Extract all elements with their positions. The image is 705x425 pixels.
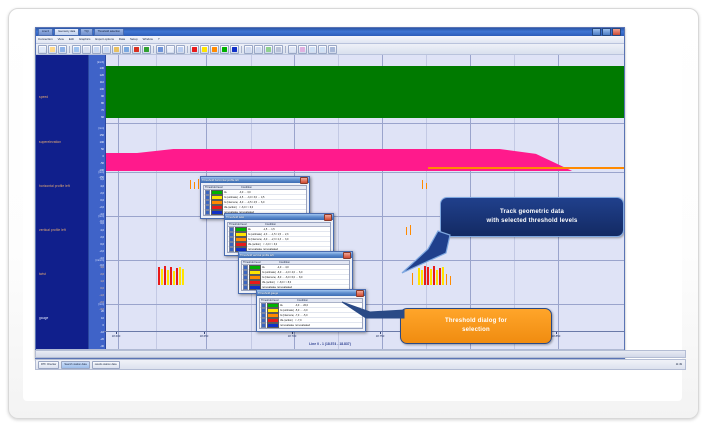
x-tick-3: 18.750 [376, 334, 385, 338]
threshold-condition: -6,0 … -4,5 / 4,5 … 6,0 [238, 201, 306, 204]
toolbar[interactable] [36, 44, 624, 55]
y-tick-vp-4: -2,0 [100, 250, 104, 253]
header-condition: Condition [264, 223, 330, 226]
y-axis-column: [km/h] 130 120 110 100 90 80 70 60 [mm] … [88, 55, 106, 353]
y-tick-vp-3: 0,0 [100, 243, 104, 246]
y-tick-gg-1: 10 [101, 317, 104, 320]
data-mark [158, 267, 160, 285]
maximize-button[interactable] [602, 28, 611, 36]
callout-line-2: with selected threshold levels [486, 217, 577, 226]
threshold-level-name: AL [247, 228, 251, 231]
filter-icon[interactable] [244, 45, 253, 54]
zoom-in-icon[interactable] [92, 45, 101, 54]
row-checkbox[interactable] [243, 285, 248, 290]
system-tray[interactable]: 11:49 [676, 363, 685, 366]
measure-icon[interactable] [122, 45, 131, 54]
export-icon[interactable] [264, 45, 273, 54]
threshold-condition: < -3,0 / > 3,0 [262, 243, 330, 246]
threshold-level-name: AL [223, 191, 227, 194]
data-mark [173, 271, 175, 285]
data-mark [161, 269, 163, 285]
menu-item-help[interactable]: ? [158, 36, 160, 43]
y-tick-vp-1: 4,0 [100, 229, 104, 232]
menu-item-data[interactable]: Data [119, 36, 125, 43]
data-mark [170, 267, 172, 285]
threshold-condition: -8,0 … -6,0 / 6,0 … 8,0 [276, 276, 349, 279]
table-icon[interactable] [166, 45, 175, 54]
threshold-level-name: IL (estimate) [279, 309, 294, 312]
toolbar-separator-5 [285, 46, 286, 53]
threshold-level-name: IAL (action) [247, 243, 261, 246]
dialog-close-icon[interactable] [343, 252, 351, 259]
y-tick-gg-0: 20 [101, 310, 104, 313]
threshold-level-name: IL (estimate) [247, 233, 262, 236]
window-tab-1[interactable]: Geometry data [54, 29, 79, 36]
taskbar-item-0[interactable]: RTF Checker [38, 361, 59, 369]
row-checkbox[interactable] [261, 323, 266, 328]
y-tick-vp-2: 2,0 [100, 236, 104, 239]
color-swatch [211, 210, 223, 215]
y-unit-horizontal: [mm] [98, 171, 104, 174]
y-tick-cant-2: 50 [101, 148, 104, 151]
y-tick-cant-4: -50 [100, 162, 104, 165]
y-tick-speed-4: 90 [101, 95, 104, 98]
y-tick-cant-0: 150 [100, 134, 104, 137]
taskbar[interactable]: RTF Checker Search station data results … [35, 359, 686, 370]
threshold-dialog-twist[interactable]: Threshold twist Threshold level Conditio… [224, 213, 334, 256]
horizontal-scrollbar[interactable] [35, 350, 686, 358]
window-tab-strip[interactable]: Line 0 Geometry data TQI Threshold selec… [38, 29, 592, 36]
menu-item-edit[interactable]: Edit [69, 36, 74, 43]
grid-icon[interactable] [72, 45, 81, 54]
taskbar-item-1[interactable]: Search station data [61, 361, 89, 369]
dialog-title: Threshold gauge [258, 292, 356, 295]
y-tick-speed-2: 110 [100, 81, 104, 84]
threshold-dialog-vertical-profile[interactable]: Threshold vertical profile left Threshol… [238, 251, 353, 294]
y-tick-tw-2: 1,0 [100, 280, 104, 283]
y-tick-cant-1: 100 [100, 141, 104, 144]
blue-flag-icon[interactable] [230, 45, 239, 54]
window-tab-0[interactable]: Line 0 [38, 29, 53, 36]
y-tick-tw-0: 3,0 [100, 266, 104, 269]
threshold-level-name: AL [279, 304, 283, 307]
y-tick-hp-3: 0,0 [100, 199, 104, 202]
y-tick-cant-3: 0 [103, 155, 104, 158]
pan-icon[interactable] [112, 45, 121, 54]
red-flag-icon[interactable] [190, 45, 199, 54]
orange-flag-icon[interactable] [210, 45, 219, 54]
callout-threshold-dialog: Threshold dialog for selection [400, 308, 552, 344]
y-tick-hp-4: -2,0 [100, 206, 104, 209]
toolbar-separator [69, 46, 70, 53]
x-tick-5: 18.850 [552, 334, 561, 338]
threshold-condition: -6,0 … -4,0 / 4,0 … 6,0 [276, 271, 349, 274]
close-button[interactable] [612, 28, 621, 36]
header-condition: Condition [278, 261, 349, 264]
new-icon[interactable] [38, 45, 47, 54]
y-tick-speed-3: 100 [100, 88, 104, 91]
data-mark [176, 268, 178, 285]
threshold-grid[interactable]: Threshold level Condition AL -1,5 … 1,5 … [227, 222, 331, 253]
threshold-level-name: AL [261, 266, 265, 269]
threshold-condition: -3,0 … 3,0 [238, 191, 306, 194]
channel-label-horizontal-profile: horizontal profile left [39, 184, 70, 188]
window-controls[interactable] [592, 28, 622, 36]
dialog-close-icon[interactable] [300, 177, 308, 184]
y-tick-hp-2: 2,0 [100, 192, 104, 195]
y-tick-gg-2: 0 [103, 324, 104, 327]
x-tick-1: 18.650 [200, 334, 209, 338]
callout-text: Threshold dialog for selection [439, 317, 513, 335]
y-tick-speed-0: 130 [100, 67, 104, 70]
threshold-condition: -2,3 … -1,5 / 1,5 … 2,3 [262, 233, 330, 236]
y-unit-gauge: [mm] [98, 303, 104, 306]
cursor-icon[interactable] [82, 45, 91, 54]
threshold-icon[interactable] [298, 45, 307, 54]
y-tick-vp-0: 6,0 [100, 222, 104, 225]
search-icon[interactable] [308, 45, 317, 54]
green-flag-icon[interactable] [220, 45, 229, 54]
callout-text: Track geometric data with selected thres… [480, 208, 583, 226]
data-mark [198, 179, 199, 189]
menu-bar[interactable]: Connection View Edit Graphics Export opt… [36, 36, 624, 44]
threshold-grid[interactable]: Threshold level Condition AL -4,0 … 4,0 … [241, 260, 350, 291]
menu-item-connection[interactable]: Connection [38, 36, 53, 43]
menu-item-graphics[interactable]: Graphics [79, 36, 91, 43]
channel-label-vertical-profile: vertical profile left [39, 228, 66, 232]
print-icon[interactable] [274, 45, 283, 54]
callout-line-1: Threshold dialog for [445, 317, 507, 326]
y-unit-vertical: [mm] [98, 215, 104, 218]
open-icon[interactable] [48, 45, 57, 54]
taskbar-item-2[interactable]: results station data [92, 361, 120, 369]
threshold-level-name: IL (estimate) [261, 271, 276, 274]
data-mark [422, 180, 423, 189]
title-bar: Line 0 Geometry data TQI Threshold selec… [36, 28, 624, 36]
menu-item-view[interactable]: View [58, 36, 64, 43]
chart-icon[interactable] [156, 45, 165, 54]
channel-label-superelevation: superelevation [39, 140, 61, 144]
y-tick-tw-1: 2,0 [100, 273, 104, 276]
callout-pointer-blue [388, 227, 454, 277]
select-icon[interactable] [288, 45, 297, 54]
channel-label-gauge: gauge [39, 316, 48, 320]
zoom-out-icon[interactable] [102, 45, 111, 54]
color-swatch [267, 323, 279, 328]
header-condition: Condition [240, 186, 306, 189]
threshold-level-name: IL (estimate) [223, 196, 238, 199]
threshold-condition: -3,0 … -2,3 / 2,3 … 3,0 [262, 238, 330, 241]
callout-line-2: selection [445, 326, 507, 335]
speed-band [106, 66, 624, 118]
data-mark [182, 269, 184, 285]
y-unit-superelevation: [mm] [98, 127, 104, 130]
threshold-grid[interactable]: Threshold level Condition AL -3,0 … 3,0 … [203, 185, 307, 216]
callout-track-geometric-data: Track geometric data with selected thres… [440, 197, 624, 237]
dialog-body: Threshold level Condition AL -1,5 … 1,5 … [225, 220, 333, 255]
menu-item-setup[interactable]: Setup [130, 36, 138, 43]
dialog-close-icon[interactable] [324, 214, 332, 221]
y-tick-tw-4: -1,0 [100, 294, 104, 297]
y-unit-speed: [km/h] [97, 61, 104, 64]
settings-icon[interactable] [328, 45, 337, 54]
play-icon[interactable] [142, 45, 151, 54]
threshold-level-name: IAL (action) [223, 206, 237, 209]
window-tab-3[interactable]: Threshold selection [94, 29, 125, 36]
y-tick-speed-7: 60 [101, 116, 104, 119]
y-tick-speed-5: 80 [101, 102, 104, 105]
y-tick-hp-0: 6,0 [100, 178, 104, 181]
y-tick-hp-1: 4,0 [100, 185, 104, 188]
record-icon[interactable] [132, 45, 141, 54]
y-tick-tw-3: 0,0 [100, 287, 104, 290]
y-unit-twist: [mm/m] [96, 259, 104, 262]
y-tick-speed-6: 70 [101, 109, 104, 112]
x-tick-2: 18.700 [288, 334, 297, 338]
yellow-flag-icon[interactable] [200, 45, 209, 54]
data-mark [179, 267, 181, 285]
data-mark [164, 266, 166, 285]
dialog-close-icon[interactable] [356, 290, 364, 297]
threshold-level-name: IL (intervene) [223, 201, 238, 204]
x-tick-0: 18.600 [112, 334, 121, 338]
minimize-button[interactable] [592, 28, 601, 36]
data-mark [190, 180, 191, 189]
threshold-condition: < -8,0 / > 8,0 [276, 281, 349, 284]
application-window: Line 0 Geometry data TQI Threshold selec… [35, 27, 625, 359]
menu-item-window[interactable]: Window [143, 36, 153, 43]
dialog-title: Threshold vertical profile left [240, 254, 343, 257]
data-mark [167, 270, 169, 285]
toolbar-separator-2 [153, 46, 154, 53]
threshold-condition: < -6,0 / > 6,0 [238, 206, 306, 209]
threshold-condition: -4,0 … 4,0 [276, 266, 349, 269]
row-checkbox[interactable] [205, 210, 210, 215]
save-icon[interactable] [58, 45, 67, 54]
toolbar-separator-3 [187, 46, 188, 53]
threshold-condition: -1,5 … 1,5 [262, 228, 330, 231]
channel-label-speed: speed [39, 95, 48, 99]
zoom-fit-icon[interactable] [318, 45, 327, 54]
dialog-body: Threshold level Condition AL -4,0 … 4,0 … [239, 258, 352, 293]
menu-item-export-options[interactable]: Export options [95, 36, 113, 43]
dialog-title: Threshold horizontal profile left [202, 179, 300, 182]
sort-icon[interactable] [254, 45, 263, 54]
data-mark [450, 276, 451, 285]
layers-icon[interactable] [176, 45, 185, 54]
threshold-condition: -4,5 … -3,0 / 3,0 … 4,5 [238, 196, 306, 199]
channel-label-twist: twist [39, 272, 46, 276]
data-mark [194, 182, 195, 189]
toolbar-separator-4 [241, 46, 242, 53]
window-tab-2[interactable]: TQI [80, 29, 92, 36]
data-mark [426, 183, 427, 189]
threshold-level-name: not evaluated [279, 324, 294, 327]
threshold-level-name: IAL (action) [279, 319, 293, 322]
dialog-title: Threshold twist [226, 216, 324, 219]
y-tick-speed-1: 120 [100, 74, 104, 77]
threshold-level-name: IL (intervene) [279, 314, 294, 317]
threshold-level-name: IAL (action) [261, 281, 275, 284]
chart-area: speed superelevation horizontal profile … [36, 55, 624, 353]
threshold-level-name: IL (intervene) [247, 238, 262, 241]
glossy-frame: Line 0 Geometry data TQI Threshold selec… [8, 8, 699, 419]
threshold-level-name: IL (intervene) [261, 276, 276, 279]
tray-clock: 11:49 [676, 363, 682, 366]
row-checkbox[interactable] [229, 247, 234, 252]
superelevation-tail [428, 167, 624, 169]
callout-line-1: Track geometric data [486, 208, 577, 217]
channel-label-column: speed superelevation horizontal profile … [36, 55, 88, 353]
callout-pointer-orange [336, 298, 408, 330]
